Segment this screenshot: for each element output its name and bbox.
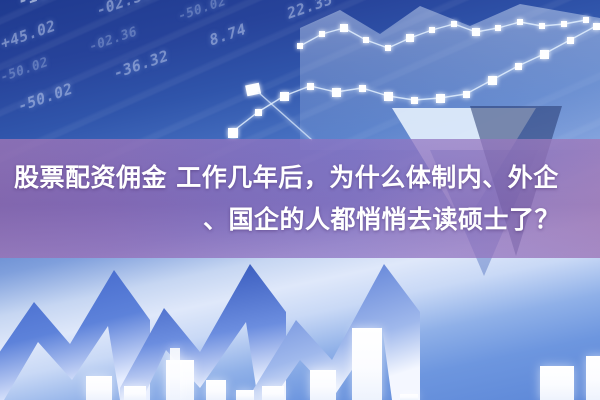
- bar-item: [262, 386, 284, 400]
- bar-item: [400, 394, 418, 400]
- bar-item: [86, 376, 112, 400]
- bar-item: [236, 390, 254, 400]
- bar-item: [352, 328, 382, 400]
- title-line-1: 股票配资佣金 工作几年后，为什么体制内、外企: [14, 157, 586, 199]
- bar-item: [540, 366, 574, 400]
- bar-item: [206, 380, 226, 400]
- page-title: 股票配资佣金 工作几年后，为什么体制内、外企 、国企的人都悄悄去读硕士了？: [0, 139, 600, 258]
- bar-item: [170, 348, 180, 400]
- title-line-2: 、国企的人都悄悄去读硕士了？: [14, 199, 586, 241]
- bar-item: [586, 356, 600, 400]
- article-banner: -03.75 -11.25 +45.02 -02.36 -50.02 21.06…: [0, 0, 600, 400]
- bar-item: [124, 386, 146, 400]
- bar-item: [310, 370, 336, 400]
